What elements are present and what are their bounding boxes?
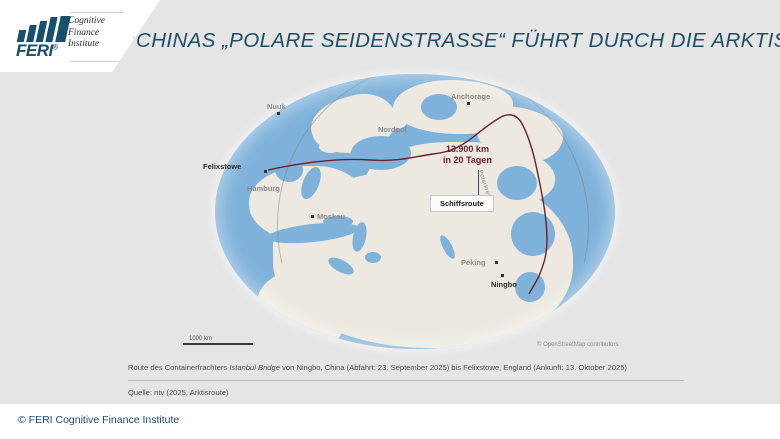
route-duration-value: in 20 Tagen [443,155,492,166]
route-note-prefix: Route des Containerfrachters [128,363,229,372]
city-label-peking: Peking [461,258,486,267]
shipping-route-line [165,70,665,355]
source-note: Quelle: ntv (2025, Arktisroute) [128,388,684,397]
copyright-text: © FERI Cognitive Finance Institute [18,414,179,426]
city-marker-felixstowe [264,170,267,173]
logo-panel: FERI® Cognitive Finance Institute [0,0,160,72]
city-marker-ningbo [501,274,504,277]
city-marker-nuuk [277,112,280,115]
scale-bar-label: 1000 km [183,336,253,342]
city-label-hamburg: Hamburg [247,184,280,193]
logo-tagline-line-1: Cognitive [68,16,105,28]
scale-bar-rule [183,343,253,345]
route-distance-value: 13.900 km [443,144,492,155]
footnotes: Route des Containerfrachters Istanbul Br… [128,362,684,397]
city-label-ningbo: Ningbo [491,280,517,289]
city-label-nordpol: Nordpol [378,125,407,134]
logo-tagline: Cognitive Finance Institute [68,16,105,51]
route-note: Route des Containerfrachters Istanbul Br… [128,362,684,373]
city-label-nuuk: Nuuk [267,102,286,111]
route-distance-label: 13.900 km in 20 Tagen [443,144,492,166]
logo-tagline-line-3: Institute [68,39,105,51]
city-label-felixstowe: Felixstowe [203,162,241,171]
map-figure: Polarkreis 13.900 km in 20 Tagen Schiffs… [165,70,665,355]
city-marker-anchorage [467,102,470,105]
route-note-suffix: von Ningbo, China (Abfahrt: 23. Septembe… [280,363,627,372]
slide: FERI® Cognitive Finance Institute CHINAS… [0,0,780,439]
logo-tagline-line-2: Finance [68,28,105,40]
city-marker-moskau [311,215,314,218]
logo-brand-text: FERI® [16,41,57,61]
page-title: CHINAS „POLARE SEIDENSTRASSE“ FÜHRT DURC… [136,29,780,53]
city-label-moskau: Moskau [317,212,345,221]
callout-schiffsroute: Schiffsroute [430,195,494,212]
feri-logo: FERI® Cognitive Finance Institute [16,14,136,60]
map-attribution: © OpenStreetMap contributors [537,342,618,348]
bar-chart-logo-icon [18,16,74,42]
callout-leader-line [478,170,479,195]
footnote-divider [128,380,684,381]
city-label-anchorage: Anchorage [451,92,490,101]
route-note-vessel: Istanbul Bridge [229,363,280,372]
city-marker-peking [495,261,498,264]
scale-bar: 1000 km [183,336,253,345]
